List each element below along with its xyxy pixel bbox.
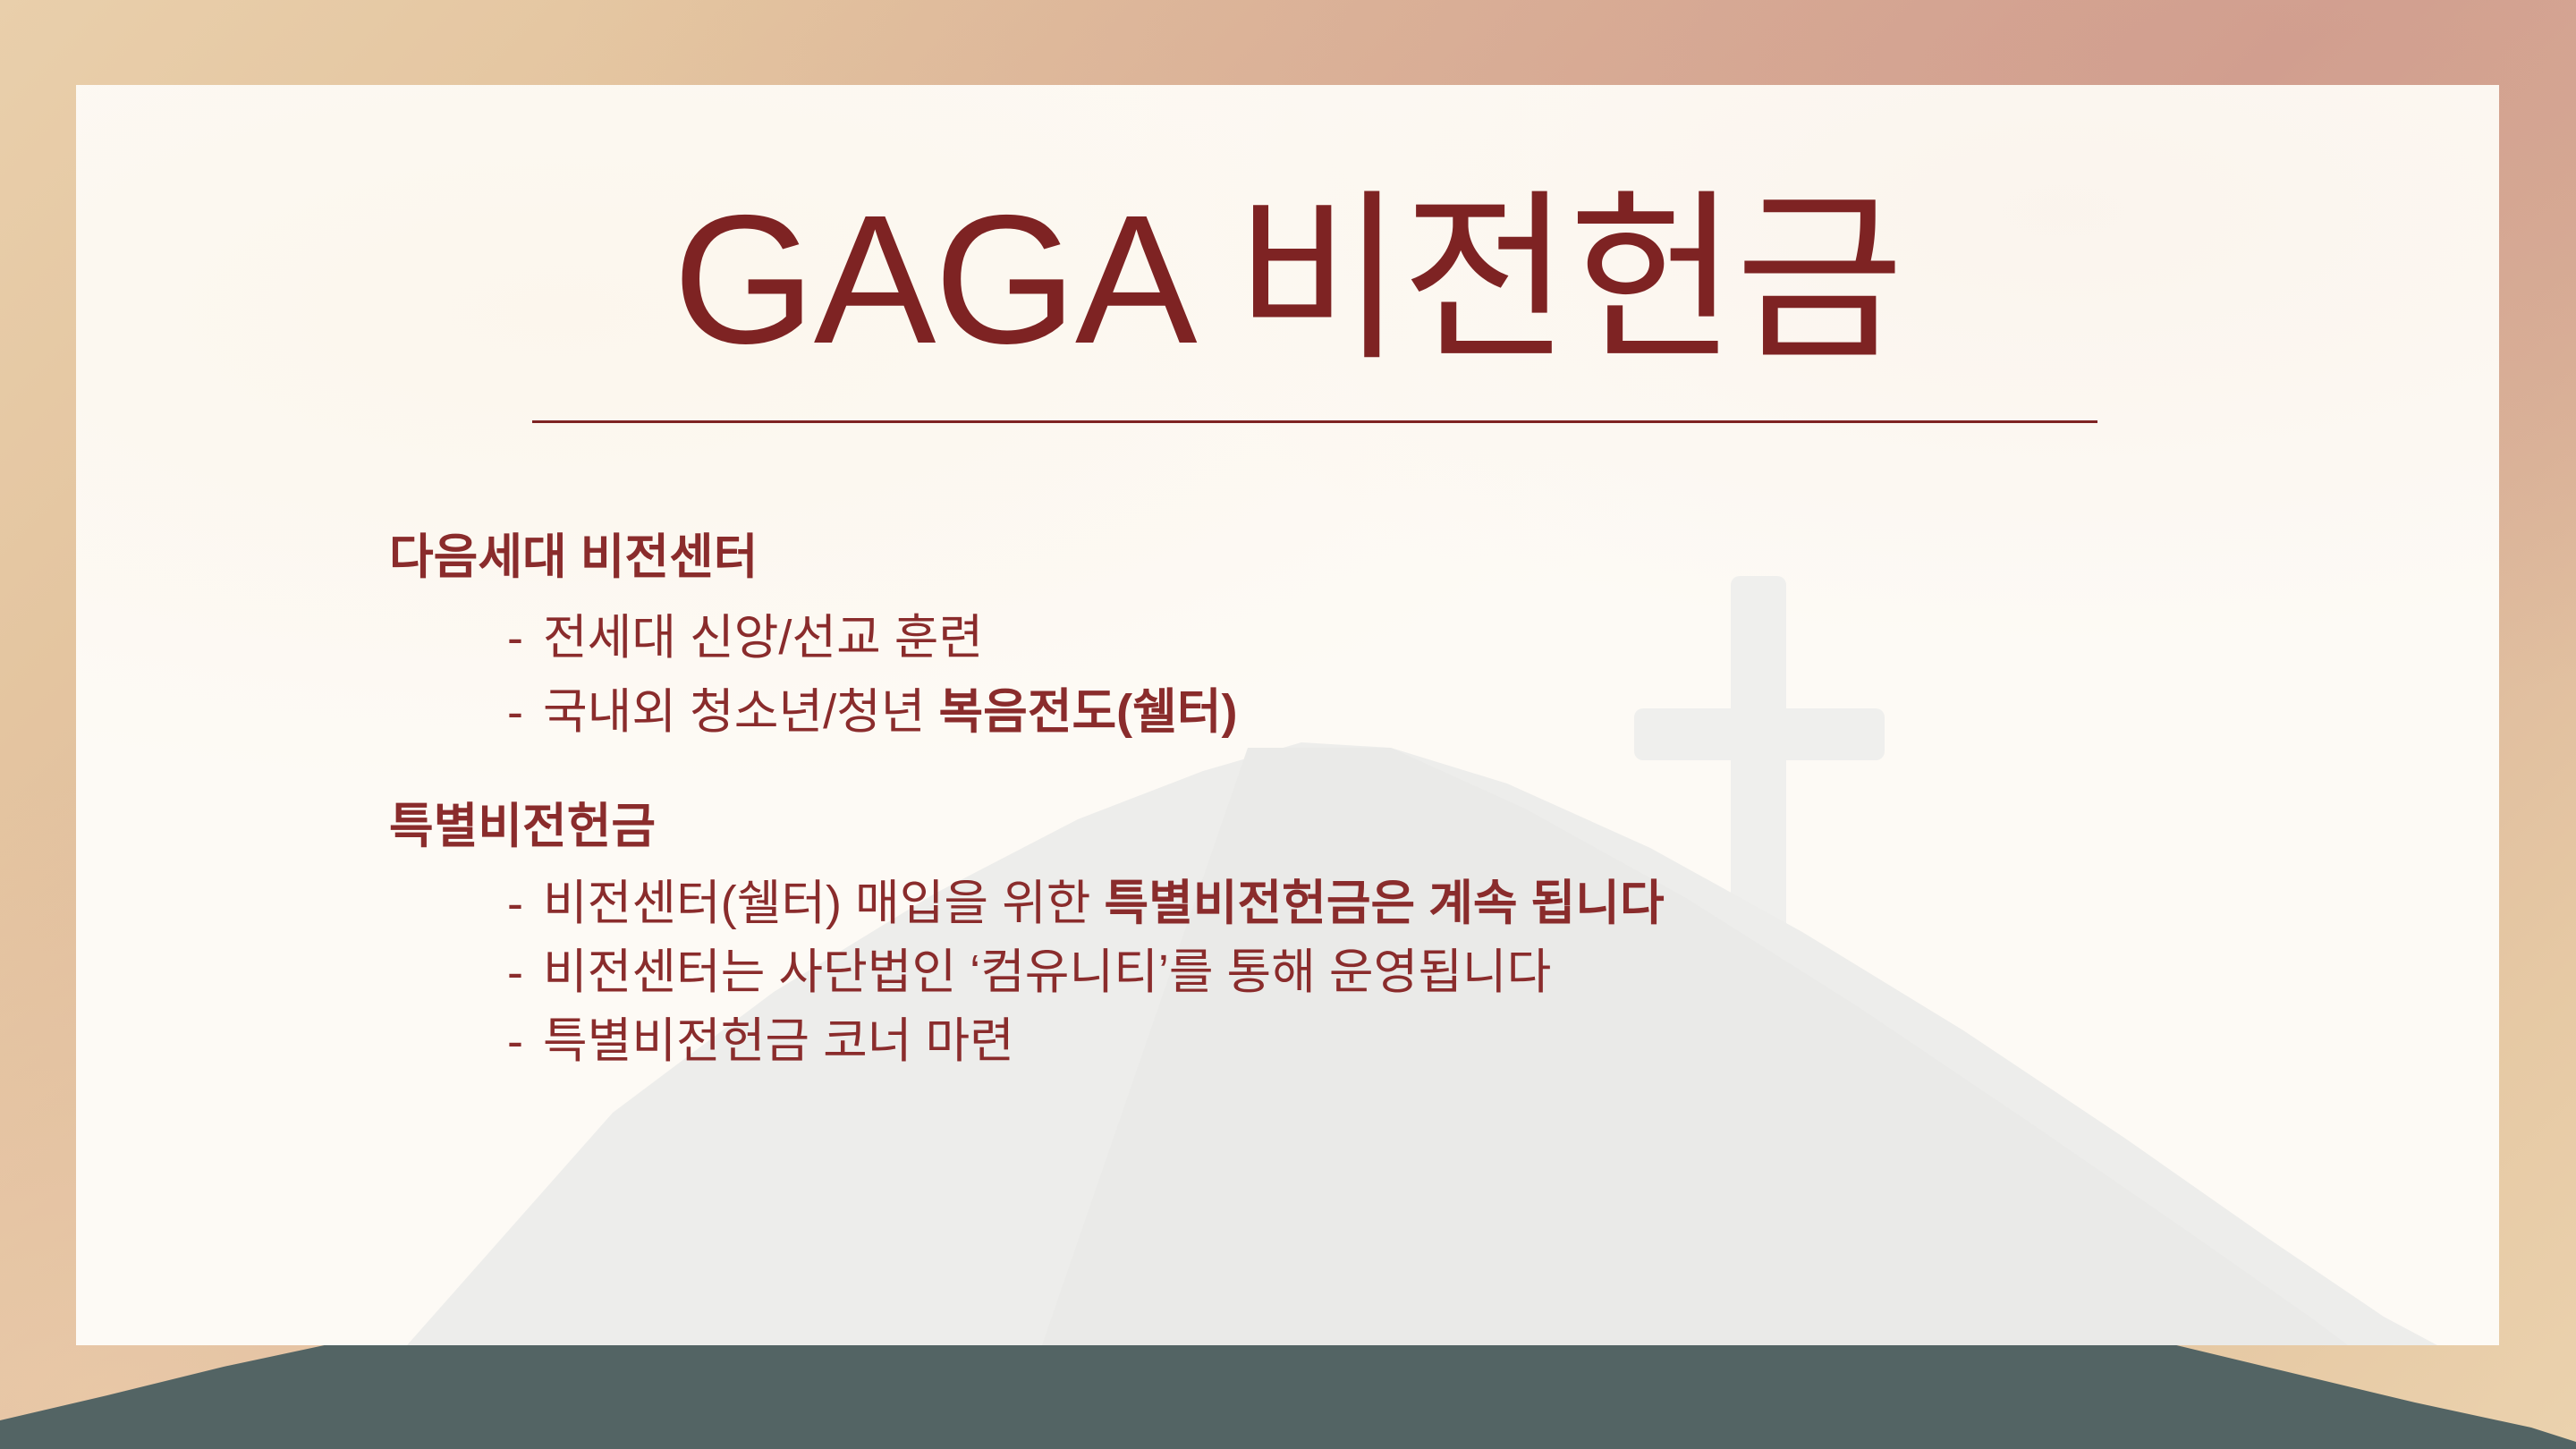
bullet-text-bold: 복음전도(쉘터) (938, 685, 1237, 739)
bullet-item: - 국내외 청소년/청년 복음전도(쉘터) (389, 675, 2446, 750)
title-block: GAGA 비전헌금 (76, 183, 2499, 376)
bullet-item: - 비전센터(쉘터) 매입을 위한 특별비전헌금은 계속 됩니다 (389, 869, 2446, 938)
section-heading: 특별비전헌금 (389, 797, 2446, 858)
page-title: GAGA 비전헌금 (76, 183, 2499, 376)
bullet-dash: - (507, 938, 543, 1007)
title-underline-rule (532, 420, 2097, 423)
bullet-dash: - (507, 675, 543, 750)
bullet-text-plain: 비전센터(쉘터) 매입을 위한 (543, 877, 1104, 930)
bullet-text: 비전센터는 사단법인 ‘컴유니티’를 통해 운영됩니다 (543, 938, 1551, 1007)
bullet-text-plain: 특별비전헌금 코너 마련 (543, 1014, 1014, 1068)
bullet-item: - 특별비전헌금 코너 마련 (389, 1007, 2446, 1076)
bullet-text-plain: 국내외 청소년/청년 (543, 685, 938, 739)
content-section-next-generation: 다음세대 비전센터 - 전세대 신앙/선교 훈련 - 국내외 청소년/청년 복음… (389, 528, 2446, 750)
bullet-text-plain: 전세대 신앙/선교 훈련 (543, 611, 983, 665)
section-heading: 다음세대 비전센터 (389, 528, 2446, 589)
bullet-text: 국내외 청소년/청년 복음전도(쉘터) (543, 675, 1238, 750)
bullet-item: - 전세대 신앙/선교 훈련 (389, 601, 2446, 676)
slide-card: GAGA 비전헌금 다음세대 비전센터 - 전세대 신앙/선교 훈련 - 국내외… (76, 85, 2499, 1345)
bullet-item: - 비전센터는 사단법인 ‘컴유니티’를 통해 운영됩니다 (389, 938, 2446, 1007)
bullet-dash: - (507, 869, 543, 938)
slide-body: 다음세대 비전센터 - 전세대 신앙/선교 훈련 - 국내외 청소년/청년 복음… (389, 528, 2446, 1075)
bullet-dash: - (507, 601, 543, 676)
content-section-special-offering: 특별비전헌금 - 비전센터(쉘터) 매입을 위한 특별비전헌금은 계속 됩니다 … (389, 797, 2446, 1076)
bullet-text: 전세대 신앙/선교 훈련 (543, 601, 983, 676)
bullet-text: 비전센터(쉘터) 매입을 위한 특별비전헌금은 계속 됩니다 (543, 869, 1665, 938)
bullet-dash: - (507, 1007, 543, 1076)
bullet-text-bold: 특별비전헌금은 계속 됩니다 (1104, 877, 1664, 930)
bullet-text: 특별비전헌금 코너 마련 (543, 1007, 1014, 1076)
bullet-text-plain: 비전센터는 사단법인 ‘컴유니티’를 통해 운영됩니다 (543, 945, 1551, 999)
